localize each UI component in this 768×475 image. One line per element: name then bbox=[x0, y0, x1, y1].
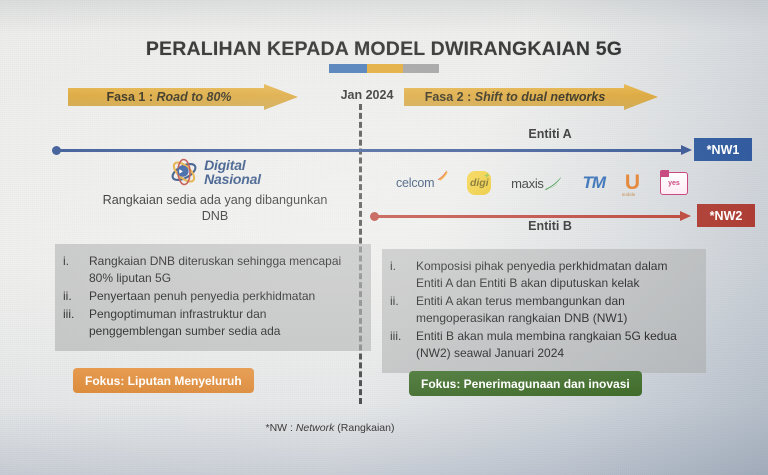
phase-1-emphasis: Road to 80% bbox=[157, 90, 232, 104]
bullet-number: i. bbox=[390, 258, 416, 275]
yes-wordmark: yes bbox=[668, 180, 680, 187]
accent-segment-blue bbox=[329, 64, 367, 73]
dnb-caption: Rangkaian sedia ada yang dibangunkan DNB bbox=[70, 193, 360, 224]
milestone-label: Jan 2024 bbox=[331, 88, 403, 102]
focus-chip-phase-1: Fokus: Liputan Menyeluruh bbox=[73, 368, 254, 393]
digital-nasional-swirl-icon bbox=[169, 157, 199, 187]
yes-badge: yes bbox=[660, 172, 688, 195]
bullet-text: Rangkaian DNB diteruskan sehingga mencap… bbox=[89, 253, 361, 287]
phase-2-arrow: Fasa 2 : Shift to dual networks bbox=[404, 84, 658, 110]
bullet-number: ii. bbox=[63, 288, 89, 305]
celcom-swoosh-icon bbox=[436, 169, 449, 182]
phase-1-arrow: Fasa 1 : Road to 80% bbox=[68, 84, 298, 110]
dnb-word-line-2: Nasional bbox=[204, 172, 261, 186]
yes-tab-icon bbox=[660, 170, 669, 177]
infographic-slide: PERALIHAN KEPADA MODEL DWIRANGKAIAN 5G F… bbox=[0, 0, 768, 475]
accent-segment-gold bbox=[367, 64, 403, 73]
maxis-leaf-icon bbox=[544, 176, 563, 191]
digi-badge: digi ✦ bbox=[467, 171, 491, 195]
entity-b-arrowhead-icon bbox=[680, 211, 691, 221]
phase-1-prefix: Fasa 1 : bbox=[106, 90, 156, 104]
bullet-number: i. bbox=[63, 253, 89, 270]
title-accent-bar bbox=[329, 64, 439, 73]
bullet-number: iii. bbox=[63, 306, 89, 323]
dnb-brand-block: Digital Nasional Rangkaian sedia ada yan… bbox=[70, 155, 360, 224]
page-title: PERALIHAN KEPADA MODEL DWIRANGKAIAN 5G bbox=[0, 38, 768, 61]
bullet-text: Entiti B akan mula membina rangkaian 5G … bbox=[416, 328, 696, 362]
telco-logo-digi: digi ✦ bbox=[467, 168, 491, 198]
telco-logo-yes: yes bbox=[660, 168, 688, 198]
entity-a-arrowhead-icon bbox=[681, 145, 692, 155]
entity-a-line bbox=[56, 149, 687, 152]
footnote-suffix: (Rangkaian) bbox=[334, 422, 394, 434]
bullet-text: Komposisi pihak penyedia perkhidmatan da… bbox=[416, 258, 696, 292]
list-item: iii. Entiti B akan mula membina rangkaia… bbox=[390, 328, 696, 362]
umobile-letter: U bbox=[625, 171, 640, 194]
list-item: ii. Entiti A akan terus membangunkan dan… bbox=[390, 293, 696, 327]
dnb-caption-line-1: Rangkaian sedia ada yang dibangunkan bbox=[70, 193, 360, 209]
celcom-wordmark: celcom bbox=[396, 176, 434, 190]
bullet-number: ii. bbox=[390, 293, 416, 310]
status-badge-nw2: *NW2 bbox=[697, 204, 755, 227]
footnote-emphasis: Network bbox=[296, 422, 335, 434]
phase-2-emphasis: Shift to dual networks bbox=[475, 90, 606, 104]
phase-1-detail-box: i. Rangkaian DNB diteruskan sehingga men… bbox=[55, 244, 371, 351]
accent-segment-gray bbox=[403, 64, 439, 73]
entity-a-label: Entiti A bbox=[470, 127, 630, 141]
digi-spark-icon: ✦ bbox=[483, 172, 489, 180]
entity-b-label: Entiti B bbox=[470, 219, 630, 233]
digital-nasional-wordmark: Digital Nasional bbox=[204, 158, 261, 187]
umobile-sublabel: mobile bbox=[622, 193, 636, 197]
list-item: ii. Penyertaan penuh penyedia perkhidmat… bbox=[63, 288, 361, 305]
telco-logo-tm: TM bbox=[582, 168, 605, 198]
bullet-number: iii. bbox=[390, 328, 416, 345]
focus-chip-phase-2: Fokus: Penerimagunaan dan inovasi bbox=[409, 371, 642, 396]
bullet-text: Pengoptimuman infrastruktur dan penggemb… bbox=[89, 306, 361, 340]
footnote-prefix: *NW : bbox=[266, 422, 296, 434]
entity-b-line bbox=[374, 215, 686, 218]
telco-logo-row: celcom digi ✦ maxis TM U bbox=[396, 166, 688, 200]
bullet-text: Entiti A akan terus membangunkan dan men… bbox=[416, 293, 696, 327]
dnb-word-line-1: Digital bbox=[204, 158, 261, 172]
phase-2-prefix: Fasa 2 : bbox=[425, 90, 475, 104]
status-badge-nw1: *NW1 bbox=[694, 138, 752, 161]
telco-logo-umobile: U mobile bbox=[625, 168, 640, 198]
telco-logo-celcom: celcom bbox=[396, 168, 447, 198]
maxis-wordmark: maxis bbox=[511, 176, 543, 191]
umobile-u-mark: U mobile bbox=[625, 174, 640, 192]
dnb-caption-line-2: DNB bbox=[70, 209, 360, 225]
list-item: i. Komposisi pihak penyedia perkhidmatan… bbox=[390, 258, 696, 292]
bullet-text: Penyertaan penuh penyedia perkhidmatan bbox=[89, 288, 315, 305]
tm-wordmark: TM bbox=[582, 173, 605, 193]
telco-logo-maxis: maxis bbox=[511, 168, 562, 198]
digital-nasional-logo: Digital Nasional bbox=[70, 155, 360, 189]
list-item: i. Rangkaian DNB diteruskan sehingga men… bbox=[63, 253, 361, 287]
list-item: iii. Pengoptimuman infrastruktur dan pen… bbox=[63, 306, 361, 340]
phase-2-detail-box: i. Komposisi pihak penyedia perkhidmatan… bbox=[382, 249, 706, 373]
footnote: *NW : Network (Rangkaian) bbox=[0, 422, 660, 434]
